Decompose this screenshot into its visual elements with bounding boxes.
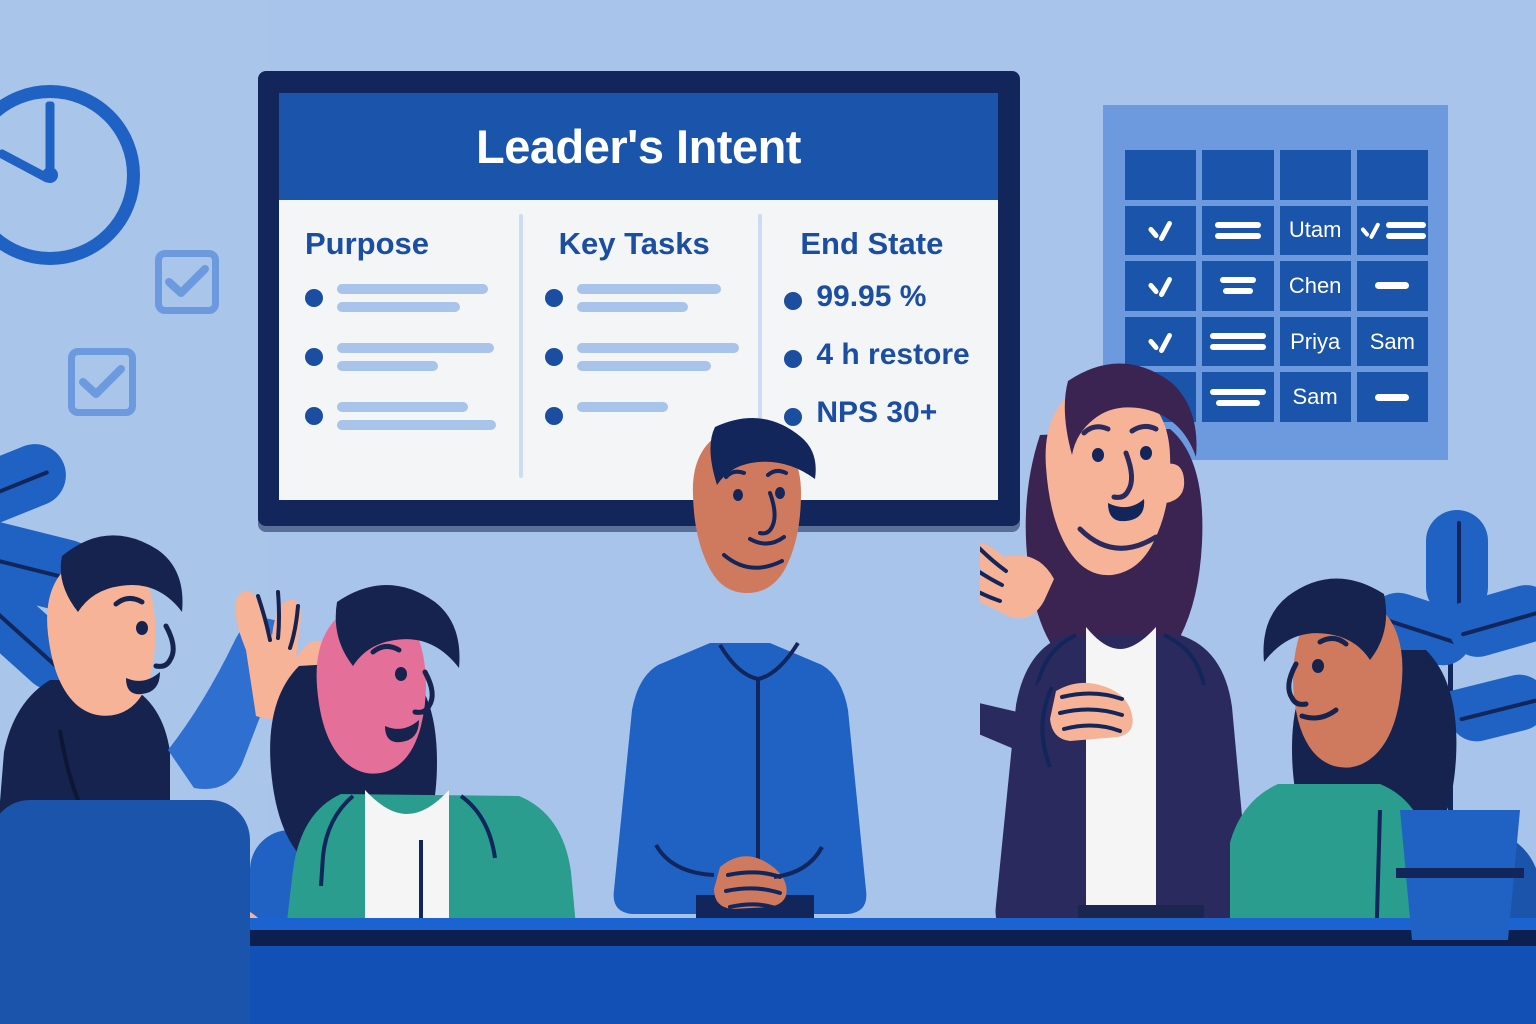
- end-state-list: 99.95 %4 h restoreNPS 30+: [784, 284, 980, 428]
- bullet-item: [305, 284, 501, 320]
- board-cell-check: [1125, 261, 1196, 311]
- board-cell-empty: [1202, 150, 1273, 200]
- check-icon: [1148, 222, 1174, 238]
- bullet-dot: [545, 348, 563, 366]
- board-cell-name: Priya: [1280, 317, 1351, 367]
- bullet-item: [545, 284, 741, 320]
- placeholder-bar: [577, 343, 739, 353]
- end-state-item: 4 h restore: [784, 342, 980, 370]
- board-cell-name: Sam: [1357, 317, 1428, 367]
- board-cell-dash: [1357, 261, 1428, 311]
- board-cell-name: Chen: [1280, 261, 1351, 311]
- bullet-dot: [305, 289, 323, 307]
- placeholder-bar: [337, 402, 468, 412]
- column-heading: Purpose: [305, 226, 501, 262]
- check-lines-icon: [1358, 222, 1426, 239]
- column-heading: Key Tasks: [559, 226, 741, 262]
- text-lines-icon: [1215, 222, 1261, 239]
- checkbox-checked-icon: [68, 348, 136, 416]
- bullet-placeholder-lines: [577, 343, 741, 379]
- board-cell-name: Utam: [1280, 206, 1351, 256]
- bullet-placeholder-lines: [337, 402, 501, 438]
- placeholder-bar: [577, 284, 721, 294]
- bullet-item: [305, 402, 501, 438]
- bullet-placeholder-lines: [337, 343, 501, 379]
- placeholder-bar: [577, 361, 711, 371]
- text-lines-icon: [1386, 222, 1426, 239]
- board-name-label: Sam: [1370, 329, 1415, 355]
- end-state-value: 99.95 %: [816, 282, 926, 312]
- board-cell-lines: [1202, 206, 1273, 256]
- slide-header: Leader's Intent: [279, 93, 998, 200]
- checkbox-checked-icon: [155, 250, 219, 314]
- slide-column-purpose: Purpose: [279, 200, 519, 500]
- board-cell-dash: [1357, 372, 1428, 422]
- bullet-dot: [545, 407, 563, 425]
- board-name-label: Sam: [1293, 384, 1338, 410]
- placeholder-bar: [337, 361, 438, 371]
- check-icon: [1148, 278, 1174, 294]
- placeholder-bar: [337, 302, 460, 312]
- placeholder-bar: [337, 284, 488, 294]
- placeholder-bar: [337, 420, 496, 430]
- bullet-dot: [305, 348, 323, 366]
- dash-icon: [1375, 394, 1409, 401]
- bullet-item: [545, 343, 741, 379]
- slide-title: Leader's Intent: [476, 119, 801, 174]
- board-cell-empty: [1125, 150, 1196, 200]
- board-cell-empty: [1357, 150, 1428, 200]
- placeholder-bar: [337, 343, 494, 353]
- bullet-dot: [545, 289, 563, 307]
- check-icon: [1361, 224, 1382, 237]
- bullet-dot: [784, 350, 802, 368]
- bullet-item: [305, 343, 501, 379]
- placeholder-bar: [577, 302, 688, 312]
- placeholder-bar: [577, 402, 669, 412]
- dash-icon: [1375, 282, 1409, 289]
- end-state-value: 4 h restore: [816, 340, 969, 370]
- board-cell-check-lines: [1357, 206, 1428, 256]
- bullet-dot: [784, 292, 802, 310]
- bullet-list: [305, 284, 501, 438]
- bullet-dot: [305, 407, 323, 425]
- bullet-list: [545, 284, 741, 425]
- board-cell-lines: [1202, 261, 1273, 311]
- end-state-item: 99.95 %: [784, 284, 980, 312]
- board-cell-empty: [1280, 150, 1351, 200]
- bullet-placeholder-lines: [337, 284, 501, 320]
- board-cell-check: [1125, 206, 1196, 256]
- plant-pot-rim: [1396, 868, 1524, 878]
- board-cell-name: Sam: [1280, 372, 1351, 422]
- clock-center-pin: [42, 167, 58, 183]
- board-name-label: Priya: [1290, 329, 1340, 355]
- illustration-scene: UtamChenPriyaSamSam Leader's Intent Purp…: [0, 0, 1536, 1024]
- bullet-placeholder-lines: [577, 284, 741, 320]
- board-name-label: Utam: [1289, 217, 1342, 243]
- board-name-label: Chen: [1289, 273, 1342, 299]
- text-lines-icon: [1220, 277, 1256, 294]
- chair: [0, 800, 250, 1024]
- column-heading: End State: [800, 226, 980, 262]
